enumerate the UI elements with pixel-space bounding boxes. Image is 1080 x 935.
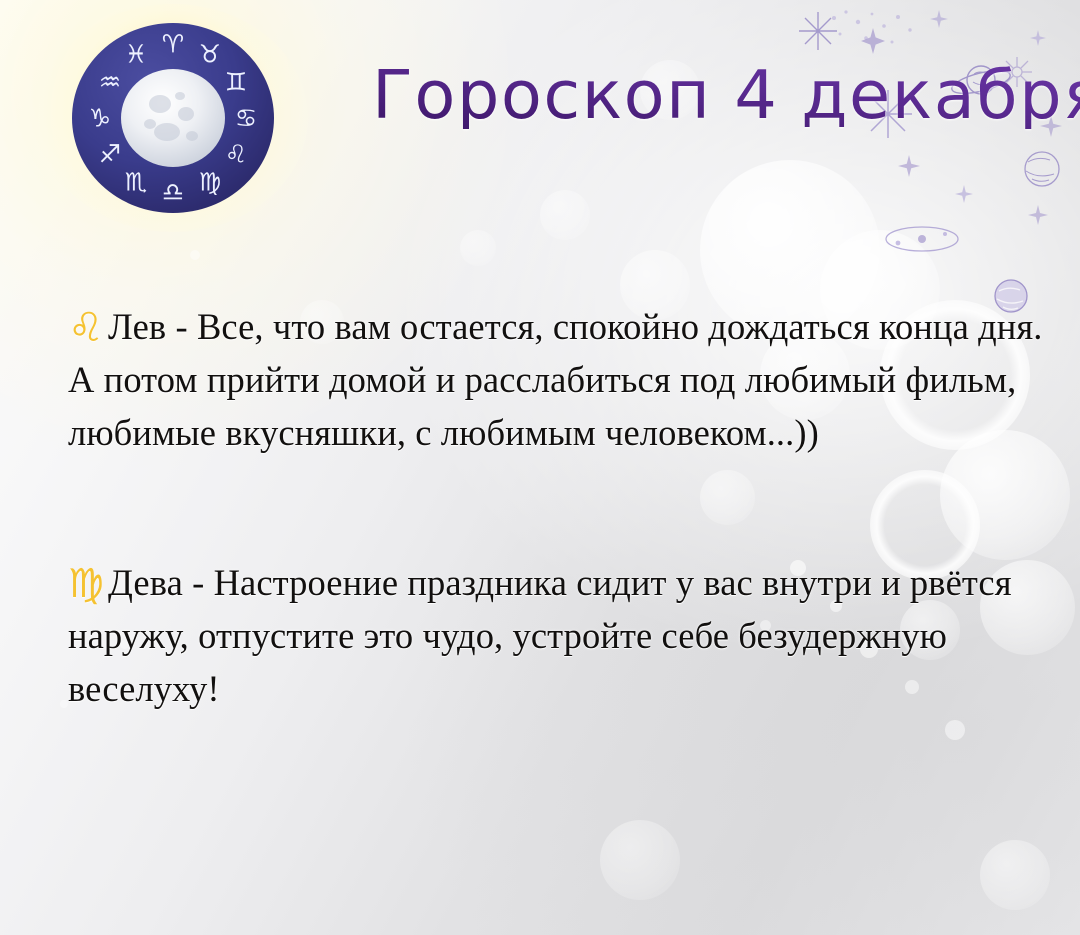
wheel-glyph-leo: ♌	[225, 140, 247, 169]
bokeh-circle	[540, 190, 590, 240]
star-icon	[955, 185, 973, 203]
star-icon	[930, 10, 948, 28]
bokeh-dot	[945, 720, 965, 740]
star-icon	[898, 155, 920, 177]
bokeh-circle	[600, 820, 680, 900]
wheel-glyph-sagittarius: ♐	[99, 140, 121, 169]
page-title: Гороскоп 4 декабря	[372, 62, 1080, 129]
sign-separator: -	[166, 306, 197, 347]
horoscope-entries: ♌Лев - Все, что вам остается, спокойно д…	[68, 300, 1048, 715]
sign-separator: -	[183, 562, 214, 603]
wheel-glyph-capricorn: ♑	[89, 104, 111, 133]
horoscope-entry-leo: ♌Лев - Все, что вам остается, спокойно д…	[68, 300, 1048, 459]
zodiac-wheel-graphic: ♈ ♉ ♊ ♋ ♌ ♍ ♎ ♏ ♐ ♑ ♒ ♓	[62, 18, 284, 218]
sign-name-virgo: Дева	[108, 562, 183, 603]
zodiac-wheel: ♈ ♉ ♊ ♋ ♌ ♍ ♎ ♏ ♐ ♑ ♒ ♓	[38, 4, 308, 232]
leo-symbol: ♌	[68, 305, 104, 351]
star-icon	[860, 28, 886, 54]
star-icon	[1030, 30, 1046, 46]
horoscope-text-leo: Все, что вам остается, спокойно дождатьс…	[68, 306, 1043, 453]
wheel-glyph-gemini: ♊	[225, 68, 247, 97]
bokeh-circle	[980, 840, 1050, 910]
wheel-glyph-virgo: ♍	[199, 168, 221, 197]
wheel-glyph-aries: ♈	[162, 30, 184, 59]
bokeh-circle	[460, 230, 496, 266]
orbit-icon	[883, 222, 961, 256]
sparkle-burst-icon	[795, 8, 841, 54]
bokeh-dot	[60, 700, 68, 708]
bokeh-dot	[190, 250, 200, 260]
wheel-glyph-pisces: ♓	[125, 40, 147, 69]
wheel-glyph-scorpio: ♏	[125, 168, 147, 197]
horoscope-poster: ♈ ♉ ♊ ♋ ♌ ♍ ♎ ♏ ♐ ♑ ♒ ♓ Гороскоп 4 декаб…	[0, 0, 1080, 935]
horoscope-entry-virgo: ♍Дева - Настроение праздника сидит у вас…	[68, 556, 1048, 715]
wheel-glyph-aquarius: ♒	[99, 68, 121, 97]
virgo-symbol: ♍	[68, 561, 104, 607]
wheel-glyph-taurus: ♉	[199, 40, 221, 69]
star-dust-icon	[828, 8, 918, 54]
star-icon	[1028, 205, 1048, 225]
wheel-glyph-libra: ♎	[162, 178, 184, 207]
wheel-glyph-cancer: ♋	[235, 104, 257, 133]
sign-name-leo: Лев	[108, 306, 166, 347]
planet-icon	[1018, 145, 1066, 193]
